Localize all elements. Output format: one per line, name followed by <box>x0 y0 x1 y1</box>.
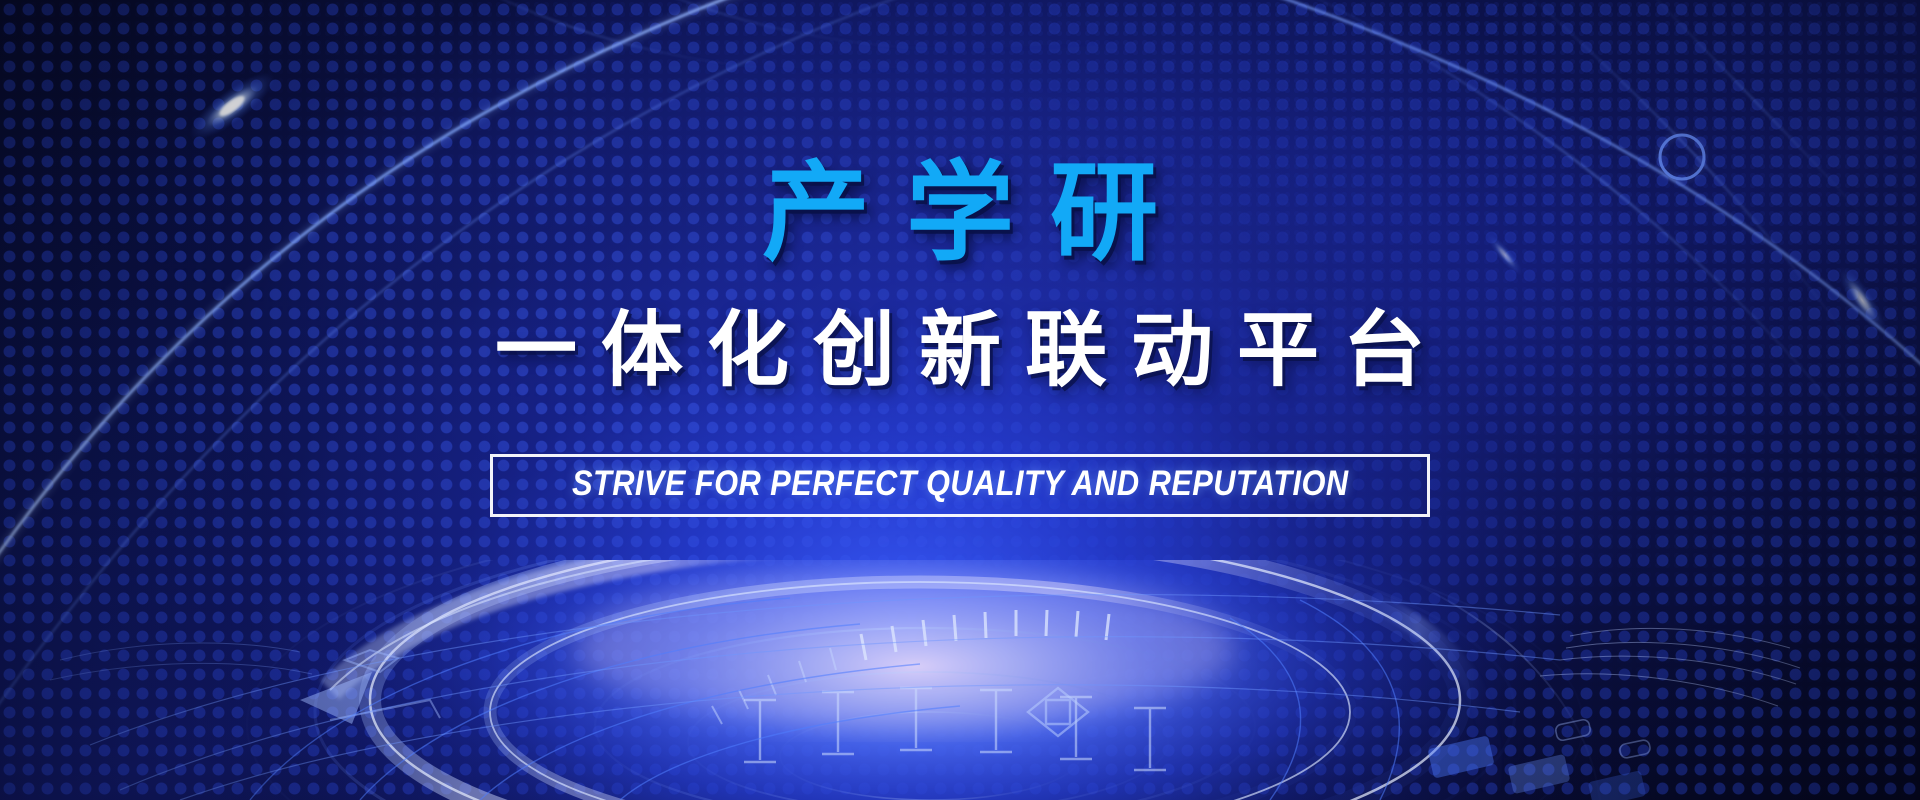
page-title: 产学研 <box>726 160 1194 268</box>
banner-content: 产学研 一体化创新联动平台 STRIVE FOR PERFECT QUALITY… <box>0 0 1920 800</box>
hero-banner: 产学研 一体化创新联动平台 STRIVE FOR PERFECT QUALITY… <box>0 0 1920 800</box>
tagline-text: STRIVE FOR PERFECT QUALITY AND REPUTATIO… <box>572 466 1349 503</box>
page-subtitle: 一体化创新联动平台 <box>471 310 1449 392</box>
tagline-box: STRIVE FOR PERFECT QUALITY AND REPUTATIO… <box>490 454 1431 517</box>
